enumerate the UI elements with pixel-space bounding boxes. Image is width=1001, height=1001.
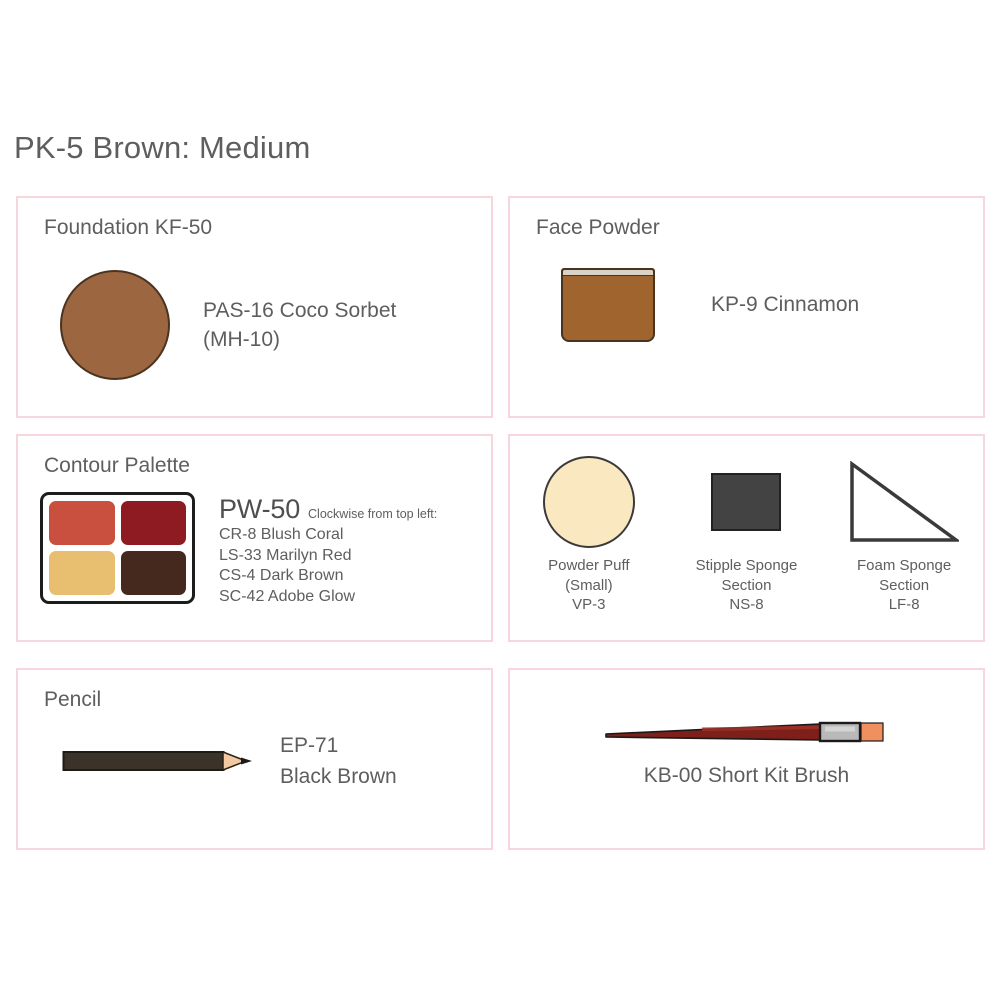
contour-shade-4: SC-42 Adobe Glow	[219, 587, 437, 608]
stipple-sponge-name-line1: Stipple Sponge	[696, 556, 798, 576]
contour-shade-3: CS-4 Dark Brown	[219, 566, 437, 587]
foundation-row: PAS-16 Coco Sorbet (MH-10)	[18, 270, 491, 380]
brush-label: KB-00 Short Kit Brush	[644, 764, 849, 788]
brush-icon	[602, 712, 892, 752]
pencil-label: EP-71 Black Brown	[280, 730, 397, 792]
foam-sponge-name-line2: Section	[857, 576, 951, 596]
powder-cake-lid	[563, 270, 653, 276]
palette-swatch-bottom-right	[121, 551, 187, 595]
contour-code: PW-50	[219, 494, 300, 525]
palette-swatch-top-left	[49, 501, 115, 545]
panel-foundation: Foundation KF-50 PAS-16 Coco Sorbet (MH-…	[16, 196, 493, 418]
powder-row: KP-9 Cinnamon	[510, 268, 983, 342]
stipple-sponge-art	[711, 450, 781, 554]
powder-puff-name-line2: (Small)	[548, 576, 629, 596]
contour-code-line: PW-50 Clockwise from top left:	[219, 494, 437, 525]
powder-cake-icon	[561, 268, 655, 342]
powder-label: KP-9 Cinnamon	[711, 293, 859, 317]
powder-puff-art	[543, 450, 635, 554]
stipple-sponge-code: NS-8	[696, 595, 798, 615]
palette-swatch-bottom-left	[49, 551, 115, 595]
page-title: PK-5 Brown: Medium	[14, 130, 310, 166]
powder-cake-body	[561, 268, 655, 342]
contour-row: PW-50 Clockwise from top left: CR-8 Blus…	[18, 492, 491, 607]
palette-swatch-top-right	[121, 501, 187, 545]
contour-shade-1: CR-8 Blush Coral	[219, 525, 437, 546]
contour-note: Clockwise from top left:	[308, 507, 437, 521]
panel-sponges: Powder Puff (Small) VP-3 Stipple Sponge …	[508, 434, 985, 642]
powder-puff-name-line1: Powder Puff	[548, 556, 629, 576]
foam-sponge-code: LF-8	[857, 595, 951, 615]
foundation-label-line2: (MH-10)	[203, 325, 396, 354]
sponge-item-powder-puff: Powder Puff (Small) VP-3	[515, 450, 663, 615]
panel-heading-face-powder: Face Powder	[536, 216, 660, 240]
powder-puff-code: VP-3	[548, 595, 629, 615]
panel-heading-contour-palette: Contour Palette	[44, 454, 190, 478]
stipple-sponge-name-line2: Section	[696, 576, 798, 596]
panel-brush: KB-00 Short Kit Brush	[508, 668, 985, 850]
panel-face-powder: Face Powder KP-9 Cinnamon	[508, 196, 985, 418]
foundation-label: PAS-16 Coco Sorbet (MH-10)	[203, 296, 396, 354]
panel-heading-pencil: Pencil	[44, 688, 101, 712]
palette-case-icon	[40, 492, 195, 604]
foundation-disc-icon	[60, 270, 170, 380]
panel-pencil: Pencil EP-71 Black Brown	[16, 668, 493, 850]
stipple-sponge-icon	[711, 473, 781, 531]
foam-sponge-icon	[849, 461, 959, 543]
pencil-label-line1: EP-71	[280, 730, 397, 761]
foam-sponge-art	[849, 450, 959, 554]
pencil-label-line2: Black Brown	[280, 761, 397, 792]
pencil-icon	[62, 744, 262, 778]
brush-wrap: KB-00 Short Kit Brush	[510, 712, 983, 788]
stipple-sponge-caption: Stipple Sponge Section NS-8	[696, 556, 798, 615]
powder-puff-caption: Powder Puff (Small) VP-3	[548, 556, 629, 615]
contour-shade-2: LS-33 Marilyn Red	[219, 546, 437, 567]
pencil-row: EP-71 Black Brown	[18, 730, 491, 792]
sponge-row: Powder Puff (Small) VP-3 Stipple Sponge …	[510, 450, 983, 615]
foundation-label-line1: PAS-16 Coco Sorbet	[203, 296, 396, 325]
contour-text-block: PW-50 Clockwise from top left: CR-8 Blus…	[219, 492, 437, 607]
panel-contour-palette: Contour Palette PW-50 Clockwise from top…	[16, 434, 493, 642]
foam-sponge-caption: Foam Sponge Section LF-8	[857, 556, 951, 615]
sponge-item-foam-sponge: Foam Sponge Section LF-8	[830, 450, 978, 615]
foam-sponge-name-line1: Foam Sponge	[857, 556, 951, 576]
powder-puff-icon	[543, 456, 635, 548]
panel-heading-foundation: Foundation KF-50	[44, 216, 212, 240]
sponge-item-stipple-sponge: Stipple Sponge Section NS-8	[672, 450, 820, 615]
